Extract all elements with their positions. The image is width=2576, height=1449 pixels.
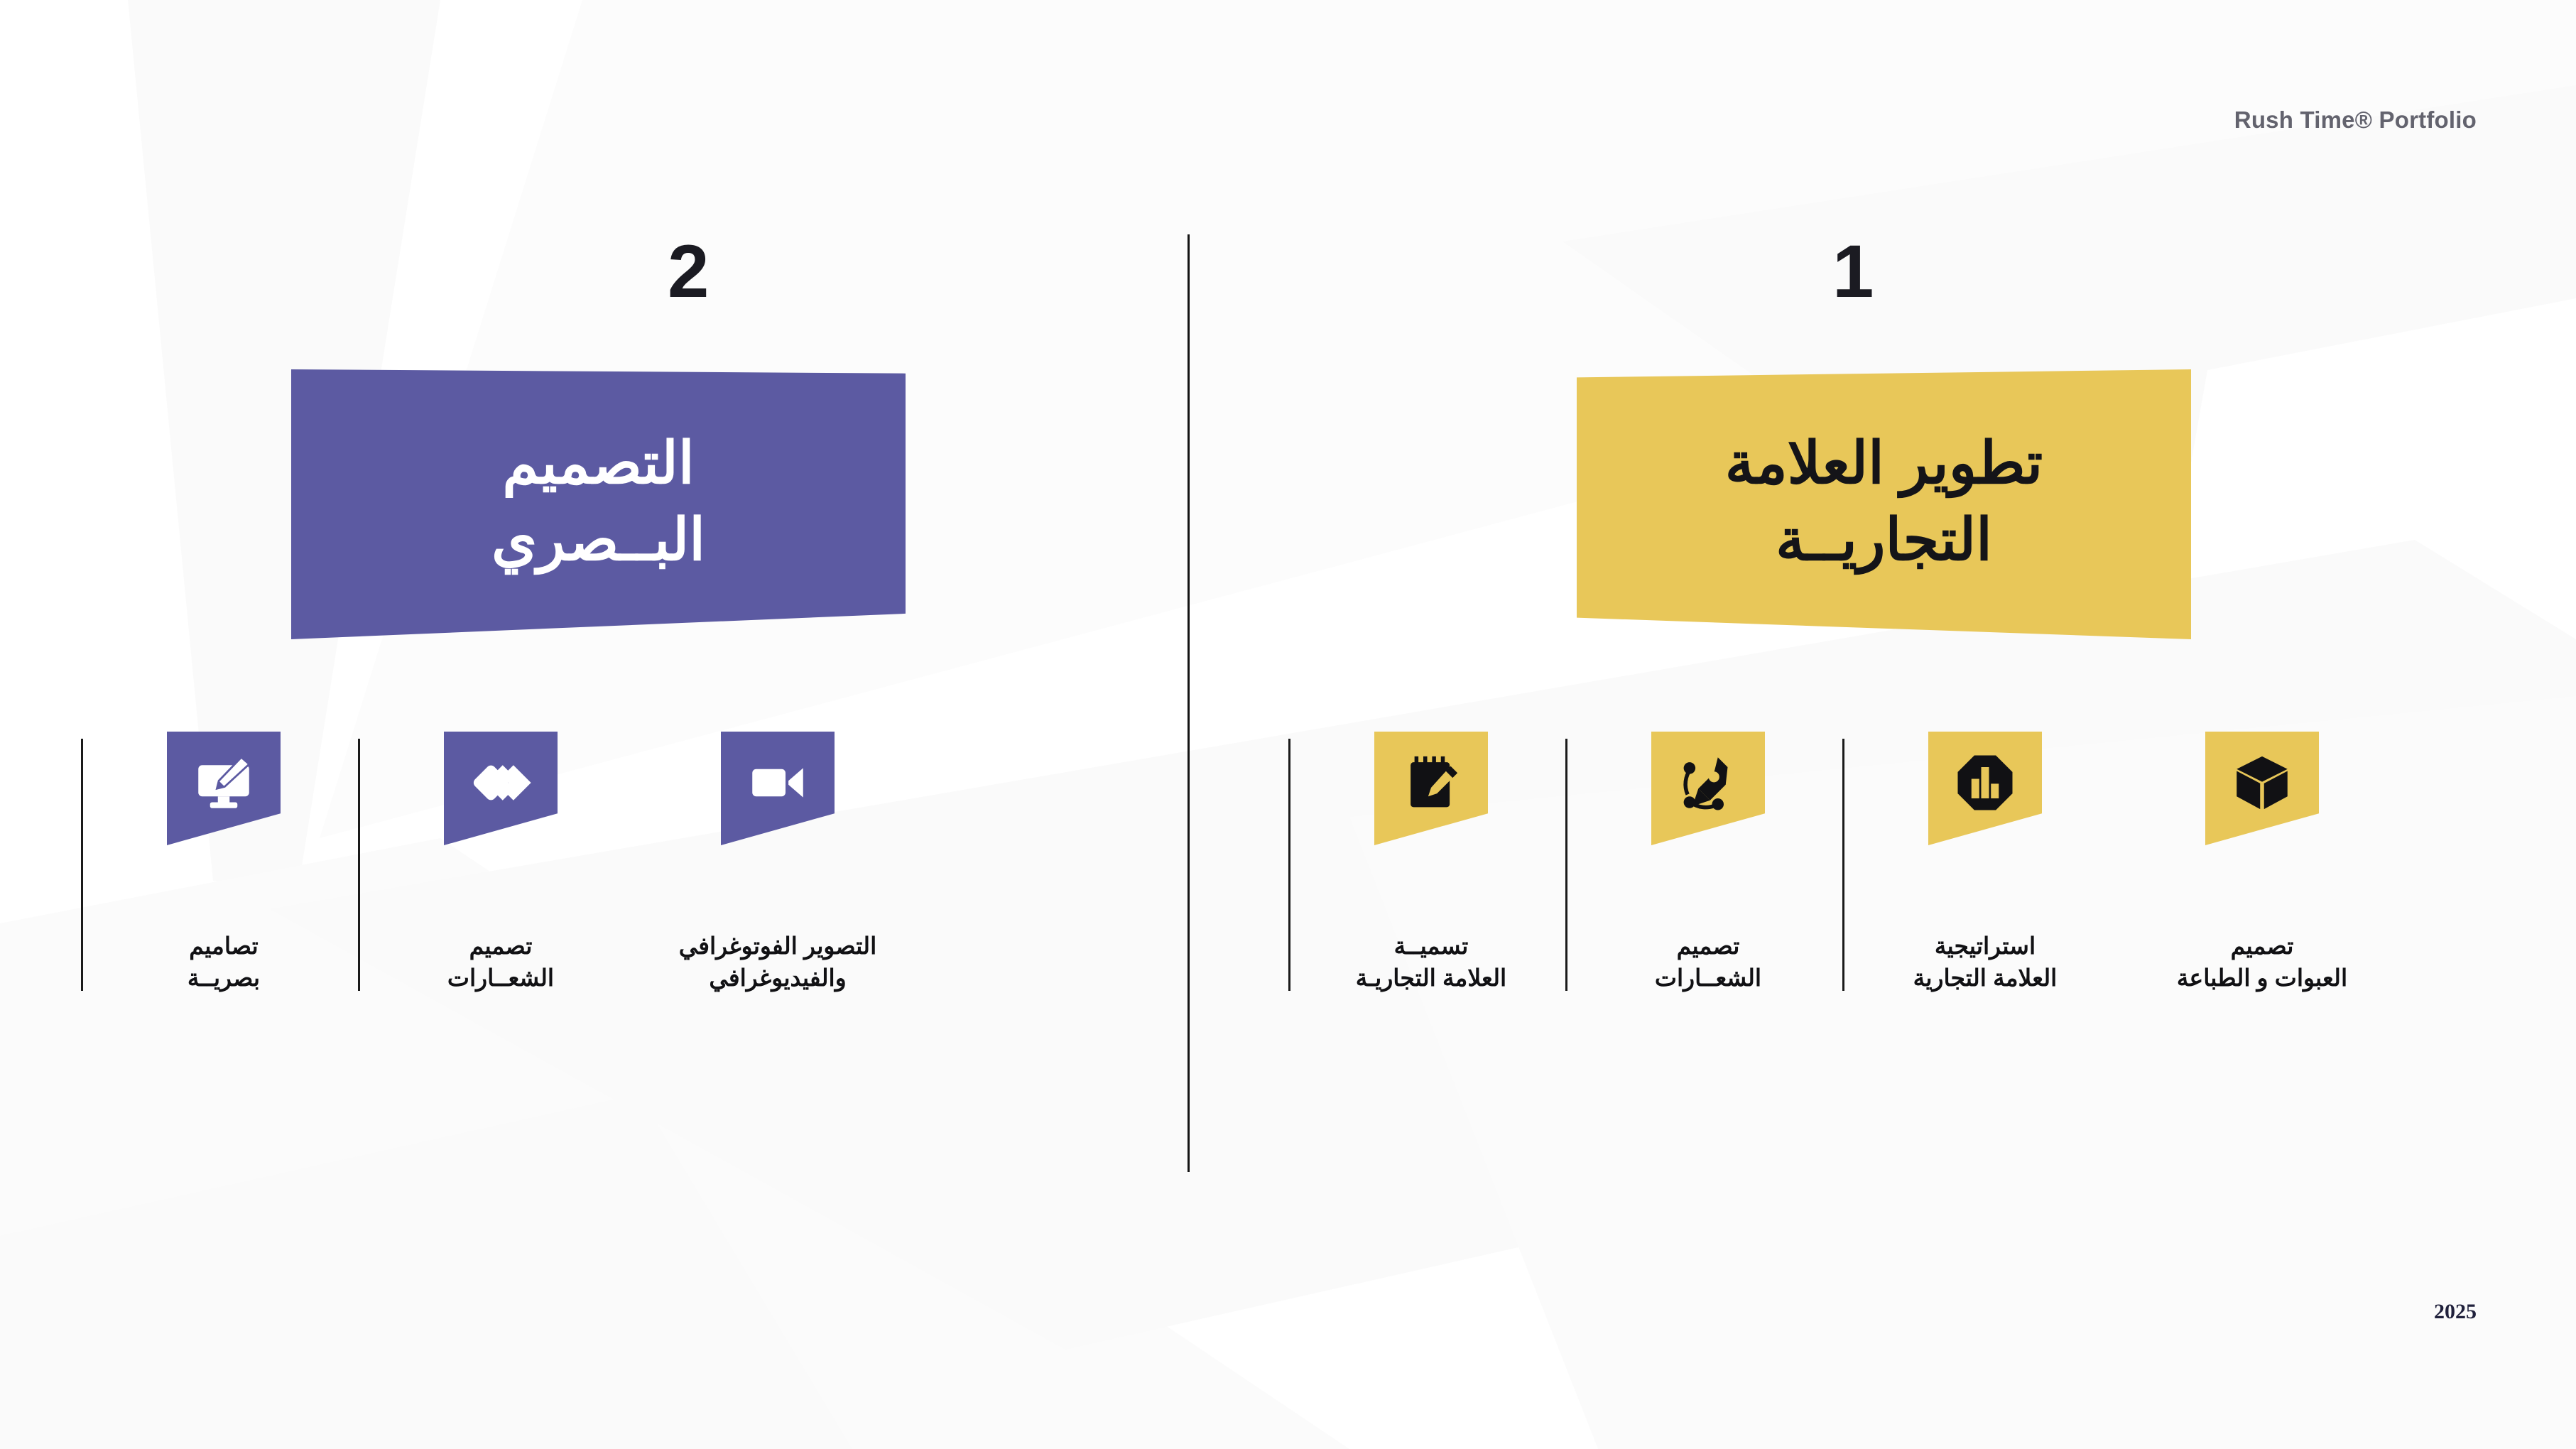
service-item-label: تصميم الشعــارات xyxy=(1648,930,1768,994)
notepad-pencil-icon xyxy=(1400,751,1462,814)
column-number-2: 2 xyxy=(668,234,709,309)
monitor-brush-icon xyxy=(192,751,255,814)
service-item-logo-design-visual[interactable]: تصميم الشعــارات xyxy=(362,732,639,994)
column-number-1: 1 xyxy=(1832,234,1874,309)
icon-tile xyxy=(167,732,281,845)
service-item-brand-naming[interactable]: تسميــة العلامة التجاريـة xyxy=(1293,732,1570,994)
box-3d-icon xyxy=(2231,751,2293,814)
icon-tile xyxy=(1928,732,2042,845)
service-item-packaging-print[interactable]: تصميم العبوات و الطباعة xyxy=(2124,732,2401,994)
service-item-label: تسميــة العلامة التجاريـة xyxy=(1349,930,1513,994)
visual-design-title: التصميم البــصري xyxy=(463,425,734,579)
service-item-visual-designs[interactable]: تصاميم بصريــة xyxy=(85,732,362,994)
visual-design-banner: التصميم البــصري xyxy=(291,369,906,639)
icon-tile xyxy=(1374,732,1488,845)
octagon-bar-chart-icon xyxy=(1954,751,2016,814)
slide-canvas: Rush Time® Portfolio 2025 1 تطوير العلام… xyxy=(0,0,2576,1449)
service-item-brand-strategy[interactable]: استراتيجية العلامة التجارية xyxy=(1847,732,2124,994)
service-item-label: تصاميم بصريــة xyxy=(180,930,267,994)
icon-tile xyxy=(2205,732,2319,845)
cell-divider xyxy=(81,739,83,991)
service-item-label: تصميم العبوات و الطباعة xyxy=(2170,930,2354,994)
column-visual-design: 2 التصميم البــصري التصوير الفوتوغرافي و… xyxy=(85,0,1165,1449)
icon-tile xyxy=(444,732,558,845)
brand-development-title: تطوير العلامة التجاريــة xyxy=(1697,425,2071,579)
center-divider xyxy=(1188,234,1190,1172)
column-brand-development: 1 تطوير العلامة التجاريــة تصميم العبوات… xyxy=(1278,0,2500,1449)
pen-nib-icon xyxy=(1677,751,1739,814)
icon-tile xyxy=(1651,732,1765,845)
service-item-photo-video[interactable]: التصوير الفوتوغرافي والفيديوغرافي xyxy=(639,732,916,994)
service-item-label: تصميم الشعــارات xyxy=(440,930,561,994)
brand-development-services: تصميم العبوات و الطباعة استراتيجية العلا… xyxy=(1293,732,2401,994)
service-item-label: استراتيجية العلامة التجارية xyxy=(1906,930,2065,994)
layered-chevrons-icon xyxy=(469,751,532,814)
service-item-label: التصوير الفوتوغرافي والفيديوغرافي xyxy=(672,930,884,994)
visual-design-services: التصوير الفوتوغرافي والفيديوغرافي تصميم … xyxy=(85,732,916,994)
video-camera-icon xyxy=(746,751,809,814)
brand-development-banner: تطوير العلامة التجاريــة xyxy=(1577,369,2191,639)
cell-divider xyxy=(1288,739,1290,991)
icon-tile xyxy=(721,732,835,845)
service-item-logo-design[interactable]: تصميم الشعــارات xyxy=(1570,732,1847,994)
